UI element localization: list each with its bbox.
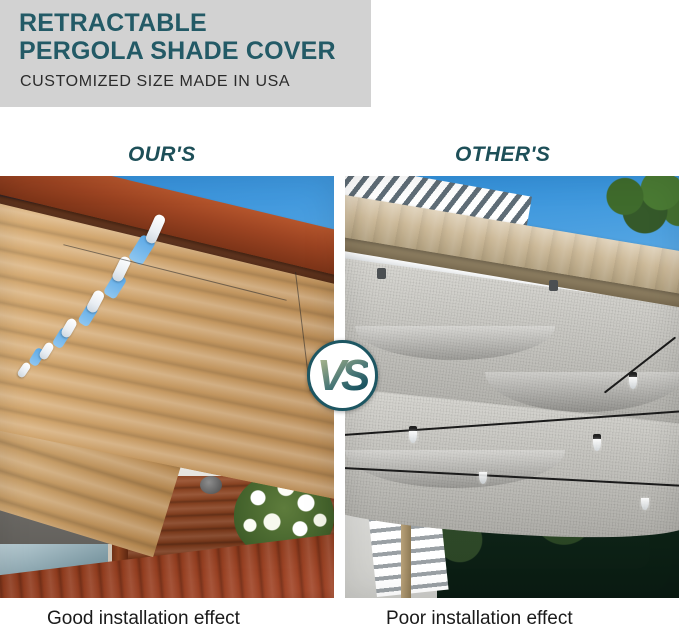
satellite-dish: [200, 476, 222, 494]
header-band: RETRACTABLE PERGOLA SHADE COVER CUSTOMIZ…: [0, 0, 371, 107]
headline-line-1: RETRACTABLE: [19, 11, 207, 36]
caption-poor-installation: Poor installation effect: [386, 608, 573, 630]
vs-badge: VS: [307, 340, 378, 411]
promo-comparison-image: RETRACTABLE PERGOLA SHADE COVER CUSTOMIZ…: [0, 0, 679, 635]
vs-label: VS: [317, 354, 369, 398]
mesh-clip: [377, 268, 386, 279]
photo-poor-installation: [345, 176, 679, 598]
column-label-ours: OUR'S: [128, 143, 196, 167]
mesh-clip: [549, 280, 558, 291]
headline-line-2: PERGOLA SHADE COVER: [19, 39, 336, 64]
caption-good-installation: Good installation effect: [47, 608, 240, 630]
column-label-others: OTHER'S: [455, 143, 550, 167]
photo-good-installation: [0, 176, 334, 598]
headline-subtitle: CUSTOMIZED SIZE MADE IN USA: [20, 73, 290, 91]
